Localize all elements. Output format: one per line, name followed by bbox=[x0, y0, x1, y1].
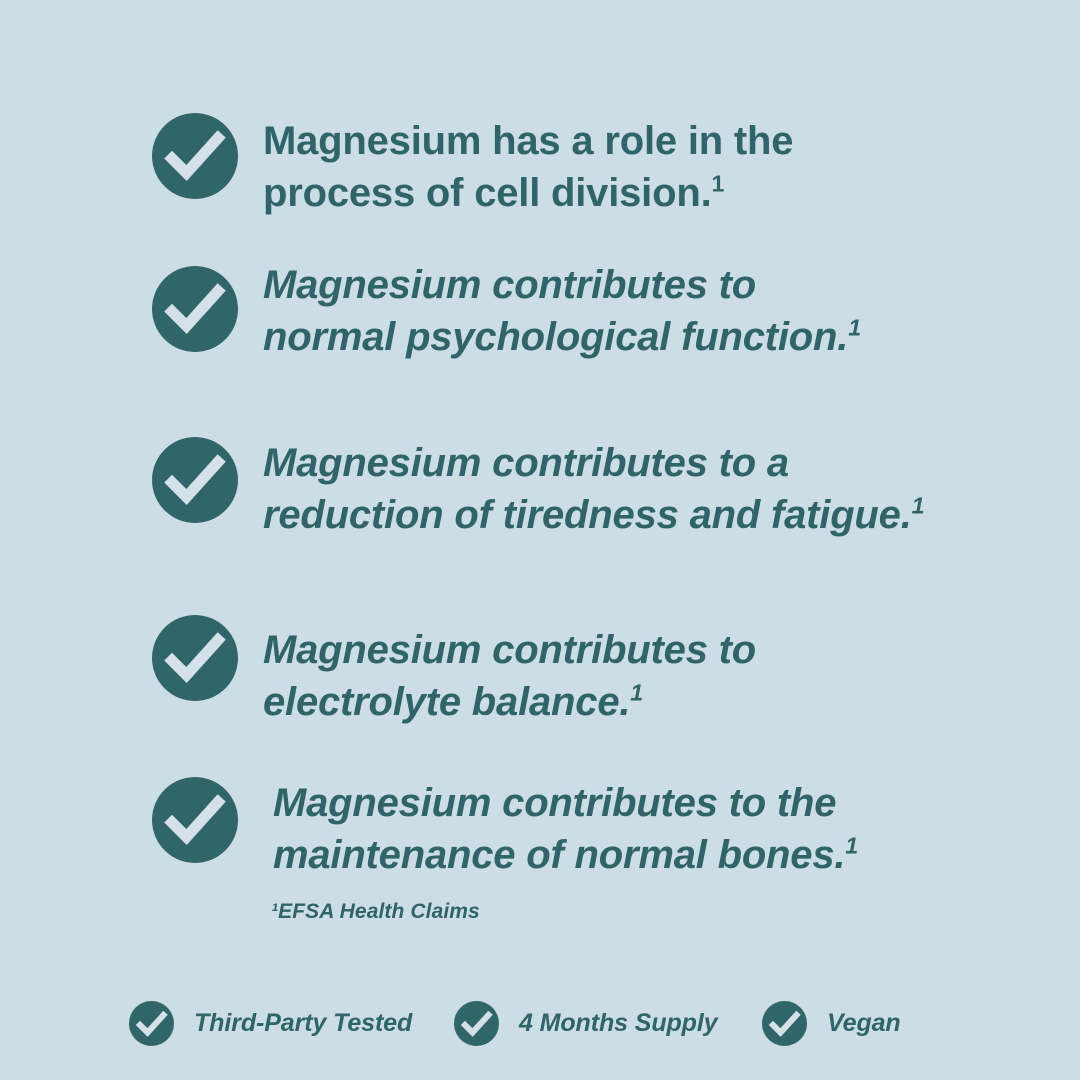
claim-row: Magnesium contributes to the maintenance… bbox=[152, 777, 858, 881]
claim-text: Magnesium contributes to normal psycholo… bbox=[263, 259, 861, 363]
claim-text: Magnesium contributes to a reduction of … bbox=[263, 437, 924, 541]
check-circle-icon bbox=[152, 615, 238, 701]
check-circle-icon bbox=[762, 1001, 807, 1046]
trust-badge-strip: Third-Party Tested4 Months SupplyVegan bbox=[0, 998, 1080, 1048]
check-circle-icon bbox=[152, 266, 238, 352]
check-circle-icon bbox=[129, 1001, 174, 1046]
check-circle-icon bbox=[152, 437, 238, 523]
claim-text: Magnesium has a role in the process of c… bbox=[263, 115, 793, 219]
check-circle-icon bbox=[152, 777, 238, 863]
claim-row: Magnesium contributes to a reduction of … bbox=[152, 437, 924, 541]
trust-badge-label: 4 Months Supply bbox=[519, 1009, 718, 1038]
trust-badge: 4 Months Supply bbox=[454, 998, 718, 1048]
claim-row: Magnesium contributes to normal psycholo… bbox=[152, 266, 861, 363]
trust-badge-label: Third-Party Tested bbox=[194, 1009, 412, 1038]
claim-row: Magnesium has a role in the process of c… bbox=[152, 113, 793, 219]
check-circle-icon bbox=[152, 113, 238, 199]
claim-footnote-marker: 1 bbox=[845, 833, 858, 859]
trust-badge: Vegan bbox=[762, 998, 901, 1048]
claim-footnote-marker: 1 bbox=[630, 680, 643, 706]
footnote-efsa: ¹EFSA Health Claims bbox=[271, 900, 480, 924]
trust-badge-label: Vegan bbox=[827, 1009, 901, 1038]
promo-card: Magnesium has a role in the process of c… bbox=[0, 0, 1080, 1080]
claim-text: Magnesium contributes to the maintenance… bbox=[273, 777, 858, 881]
trust-badge: Third-Party Tested bbox=[129, 998, 412, 1048]
check-circle-icon bbox=[454, 1001, 499, 1046]
claim-row: Magnesium contributes to electrolyte bal… bbox=[152, 615, 756, 728]
claim-footnote-marker: 1 bbox=[912, 493, 925, 519]
claim-text: Magnesium contributes to electrolyte bal… bbox=[263, 624, 756, 728]
claim-footnote-marker: 1 bbox=[711, 171, 724, 197]
claim-footnote-marker: 1 bbox=[848, 315, 861, 341]
